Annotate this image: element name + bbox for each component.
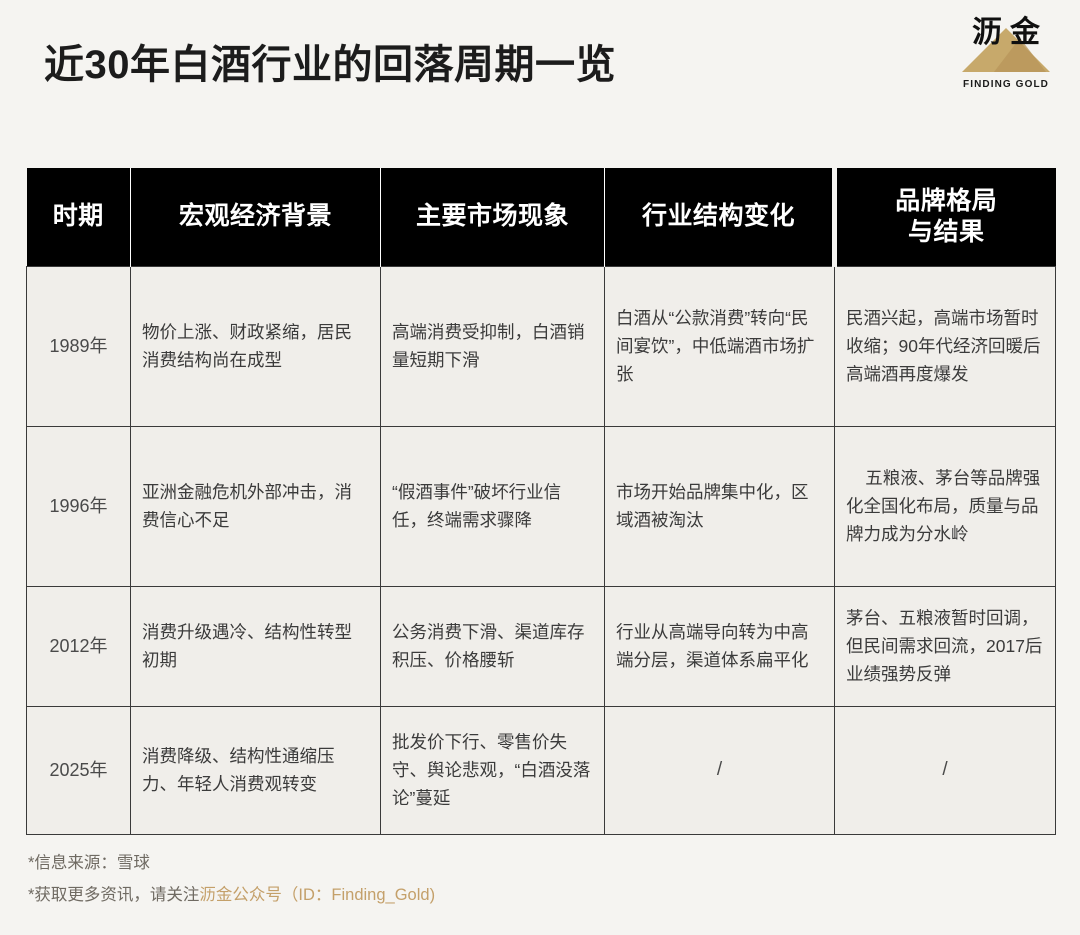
column-header-brand-line1: 品牌格局 (837, 186, 1056, 217)
cell-macro: 亚洲金融危机外部冲击，消费信心不足 (131, 426, 381, 586)
table-row: 2012年 消费升级遇冷、结构性转型初期 公务消费下滑、渠道库存积压、价格腰斩 … (27, 586, 1056, 706)
footer-follow-suffix: （ID：Finding_Gold) (282, 886, 435, 904)
cell-macro: 消费降级、结构性通缩压力、年轻人消费观转变 (131, 706, 381, 834)
cell-brand: 民酒兴起，高端市场暂时收缩；90年代经济回暖后高端酒再度爆发 (835, 266, 1056, 426)
footer-follow: *获取更多资讯，请关注沥金公众号（ID：Finding_Gold) (28, 880, 435, 911)
column-header-period: 时期 (27, 168, 131, 266)
cell-period: 2025年 (27, 706, 131, 834)
cell-brand: 五粮液、茅台等品牌强化全国化布局，质量与品牌力成为分水岭 (835, 426, 1056, 586)
cell-structure: 市场开始品牌集中化，区域酒被淘汰 (605, 426, 835, 586)
cell-structure: 白酒从“公款消费”转向“民间宴饮”，中低端酒市场扩张 (605, 266, 835, 426)
cell-market: “假酒事件”破坏行业信任，终端需求骤降 (381, 426, 605, 586)
table-row: 1996年 亚洲金融危机外部冲击，消费信心不足 “假酒事件”破坏行业信任，终端需… (27, 426, 1056, 586)
brand-logo: 沥金 FINDING GOLD (954, 14, 1058, 90)
cell-market: 公务消费下滑、渠道库存积压、价格腰斩 (381, 586, 605, 706)
footer: *信息来源：雪球 *获取更多资讯，请关注沥金公众号（ID：Finding_Gol… (28, 848, 435, 911)
column-header-macro: 宏观经济背景 (131, 168, 381, 266)
cell-market: 高端消费受抑制，白酒销量短期下滑 (381, 266, 605, 426)
column-header-market: 主要市场现象 (381, 168, 605, 266)
page-title: 近30年白酒行业的回落周期一览 (44, 32, 616, 90)
table-body: 1989年 物价上涨、财政紧缩，居民消费结构尚在成型 高端消费受抑制，白酒销量短… (27, 266, 1056, 834)
cell-market: 批发价下行、零售价失守、舆论悲观，“白酒没落论”蔓延 (381, 706, 605, 834)
cell-macro: 物价上涨、财政紧缩，居民消费结构尚在成型 (131, 266, 381, 426)
table-row: 2025年 消费降级、结构性通缩压力、年轻人消费观转变 批发价下行、零售价失守、… (27, 706, 1056, 834)
logo-chinese-name: 沥金 (954, 14, 1058, 52)
table-header: 时期 宏观经济背景 主要市场现象 行业结构变化 品牌格局 与结果 (27, 168, 1056, 266)
cycles-table-container: 时期 宏观经济背景 主要市场现象 行业结构变化 品牌格局 与结果 1989年 物… (26, 168, 1055, 835)
page-header: 近30年白酒行业的回落周期一览 沥金 FINDING GOLD (0, 0, 1080, 152)
cell-brand: / (835, 706, 1056, 834)
column-header-brand: 品牌格局 与结果 (835, 168, 1056, 266)
logo-english-name: FINDING GOLD (954, 79, 1058, 90)
table-row: 1989年 物价上涨、财政紧缩，居民消费结构尚在成型 高端消费受抑制，白酒销量短… (27, 266, 1056, 426)
footer-follow-highlight: 沥金公众号 (199, 886, 282, 904)
cell-structure: 行业从高端导向转为中高端分层，渠道体系扁平化 (605, 586, 835, 706)
footer-follow-prefix: *获取更多资讯，请关注 (28, 886, 199, 904)
cell-macro: 消费升级遇冷、结构性转型初期 (131, 586, 381, 706)
column-header-brand-line2: 与结果 (837, 217, 1056, 248)
cell-period: 2012年 (27, 586, 131, 706)
footer-source: *信息来源：雪球 (28, 848, 435, 879)
cycles-table: 时期 宏观经济背景 主要市场现象 行业结构变化 品牌格局 与结果 1989年 物… (26, 168, 1056, 835)
cell-period: 1996年 (27, 426, 131, 586)
cell-structure: / (605, 706, 835, 834)
column-header-structure: 行业结构变化 (605, 168, 835, 266)
cell-brand: 茅台、五粮液暂时回调，但民间需求回流，2017后业绩强势反弹 (835, 586, 1056, 706)
table-header-row: 时期 宏观经济背景 主要市场现象 行业结构变化 品牌格局 与结果 (27, 168, 1056, 266)
cell-period: 1989年 (27, 266, 131, 426)
